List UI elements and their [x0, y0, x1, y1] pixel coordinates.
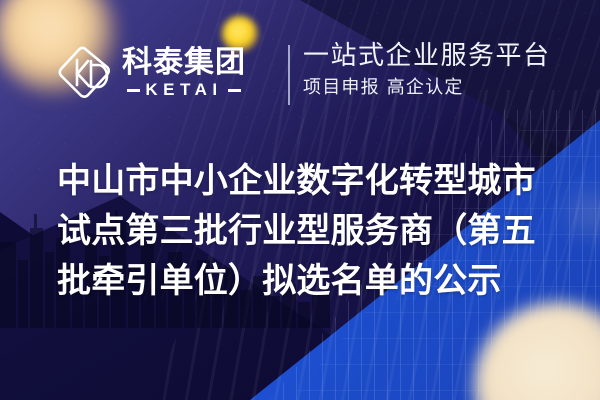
slogan-primary: 一站式企业服务平台 — [303, 40, 593, 73]
page-title: 中山市中小企业数字化转型城市试点第三批行业型服务商（第五批牵引单位）拟选名单的公… — [57, 156, 562, 306]
slogan-block: 一站式企业服务平台 项目申报 高企认定 — [303, 40, 593, 101]
promo-banner: 科泰集团 KETAI 一站式企业服务平台 项目申报 高企认定 中山市中小企业数字… — [0, 0, 600, 400]
dash-left-decoration — [127, 89, 140, 92]
dash-right-decoration — [228, 89, 241, 92]
brand-name-en-row: KETAI — [122, 81, 246, 99]
ketai-diamond-monogram-icon — [57, 43, 113, 103]
slogan-secondary: 项目申报 高企认定 — [303, 75, 593, 101]
brand-logo: 科泰集团 KETAI — [57, 40, 246, 106]
brand-name-en: KETAI — [145, 81, 222, 99]
brand-name-cn: 科泰集团 — [122, 47, 246, 79]
vertical-divider — [288, 45, 290, 105]
